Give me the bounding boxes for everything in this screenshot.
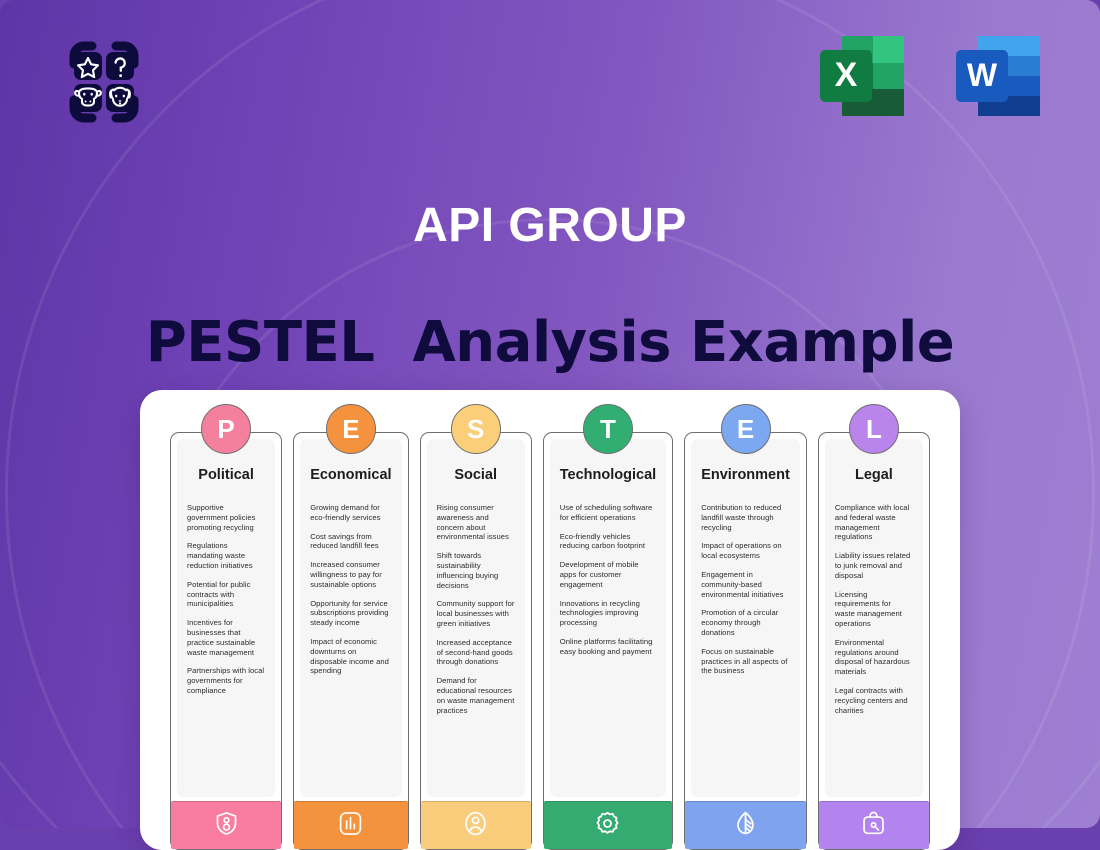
pestel-letter-badge: P [201, 404, 251, 454]
pestel-column-title: Social [437, 467, 515, 483]
pestel-column-body: LegalCompliance with local and federal w… [825, 439, 923, 797]
pestel-bullet: Licensing requirements for waste managem… [835, 590, 913, 629]
pestel-column-body: EnvironmentContribution to reduced landf… [691, 439, 800, 797]
pestel-column-environment[interactable]: EEnvironmentContribution to reduced land… [684, 432, 807, 850]
pestel-card: PPoliticalSupportive government policies… [140, 390, 960, 850]
pestel-column-technological[interactable]: TTechnologicalUse of scheduling software… [543, 432, 673, 850]
pestel-column-title: Environment [701, 467, 790, 483]
pestel-bullet: Promotion of a circular economy through … [701, 608, 790, 637]
pestel-bullet: Shift towards sustainability influencing… [437, 551, 515, 590]
pestel-bullet-list: Contribution to reduced landfill waste t… [701, 503, 790, 676]
person-icon-tile[interactable] [421, 801, 531, 849]
leaf-icon-tile[interactable] [685, 801, 806, 849]
pestel-bullet: Development of mobile apps for customer … [560, 560, 656, 589]
pestel-bullet: Liability issues related to junk removal… [835, 551, 913, 580]
microsoft-word-icon[interactable]: W [948, 26, 1048, 126]
pestel-bullet: Incentives for businesses that practice … [187, 618, 265, 657]
pestel-bullet: Growing demand for eco-friendly services [310, 503, 391, 523]
pestel-column-body: SocialRising consumer awareness and conc… [427, 439, 525, 797]
pestel-bullet: Opportunity for service subscriptions pr… [310, 599, 391, 628]
pestel-bullet: Increased acceptance of second-hand good… [437, 638, 515, 667]
api-group-logo [52, 30, 156, 134]
pestel-column-legal[interactable]: LLegalCompliance with local and federal … [818, 432, 930, 850]
shield-person-icon [213, 810, 240, 842]
pestel-bullet: Increased consumer willingness to pay fo… [310, 560, 391, 589]
pestel-bullet-list: Supportive government policies promoting… [187, 503, 265, 696]
pestel-letter-badge: E [326, 404, 376, 454]
pestel-bullet-list: Rising consumer awareness and concern ab… [437, 503, 515, 715]
pestel-bullet: Use of scheduling software for efficient… [560, 503, 656, 523]
shield-person-icon-tile[interactable] [171, 801, 281, 849]
pestel-bullet-list: Growing demand for eco-friendly services… [310, 503, 391, 676]
bar-chart-icon-tile[interactable] [294, 801, 407, 849]
pestel-bullet: Rising consumer awareness and concern ab… [437, 503, 515, 542]
pestel-bullet: Demand for educational resources on wast… [437, 676, 515, 715]
pestel-column-body: PoliticalSupportive government policies … [177, 439, 275, 797]
pestel-bullet: Supportive government policies promoting… [187, 503, 265, 532]
pestel-column-title: Economical [310, 467, 391, 483]
pestel-column-title: Political [187, 467, 265, 483]
pestel-columns: PPoliticalSupportive government policies… [170, 432, 930, 850]
pestel-column-body: EconomicalGrowing demand for eco-friendl… [300, 439, 401, 797]
pestel-letter-badge: S [451, 404, 501, 454]
pestel-bullet: Online platforms facilitating easy booki… [560, 637, 656, 657]
gear-icon-tile[interactable] [544, 801, 672, 849]
pestel-bullet: Impact of economic downturns on disposab… [310, 637, 391, 676]
pestel-bullet: Contribution to reduced landfill waste t… [701, 503, 790, 532]
gear-icon [594, 810, 621, 842]
svg-text:X: X [835, 56, 858, 94]
pestel-bullet: Focus on sustainable practices in all as… [701, 647, 790, 676]
pestel-bullet: Cost savings from reduced landfill fees [310, 532, 391, 552]
pestel-bullet: Impact of operations on local ecosystems [701, 541, 790, 561]
pestel-column-political[interactable]: PPoliticalSupportive government policies… [170, 432, 282, 850]
pestel-bullet: Engagement in community-based environmen… [701, 570, 790, 599]
pestel-bullet: Legal contracts with recycling centers a… [835, 686, 913, 715]
briefcase-icon [860, 810, 887, 842]
pestel-bullet: Environmental regulations around disposa… [835, 638, 913, 677]
office-app-icons: X W [812, 26, 1048, 126]
pestel-bullet: Regulations mandating waste reduction in… [187, 541, 265, 570]
pestel-column-economical[interactable]: EEconomicalGrowing demand for eco-friend… [293, 432, 408, 850]
person-icon [462, 810, 489, 842]
leaf-icon [732, 810, 759, 842]
pestel-bullet: Potential for public contracts with muni… [187, 580, 265, 609]
pestel-column-title: Technological [560, 467, 656, 483]
pestel-column-title: Legal [835, 467, 913, 483]
pestel-letter-badge: E [721, 404, 771, 454]
pestel-letter-badge: L [849, 404, 899, 454]
pestel-bullet: Eco-friendly vehicles reducing carbon fo… [560, 532, 656, 552]
pestel-bullet: Compliance with local and federal waste … [835, 503, 913, 542]
svg-text:W: W [967, 57, 998, 93]
pestel-bullet: Community support for local businesses w… [437, 599, 515, 628]
pestel-bullet: Partnerships with local governments for … [187, 666, 265, 695]
pestel-column-body: TechnologicalUse of scheduling software … [550, 439, 666, 797]
pestel-column-social[interactable]: SSocialRising consumer awareness and con… [420, 432, 532, 850]
microsoft-excel-icon[interactable]: X [812, 26, 912, 126]
pestel-bullet: Innovations in recycling technologies im… [560, 599, 656, 628]
brand-title: API GROUP [0, 198, 1100, 253]
bar-chart-icon [337, 810, 364, 842]
pestel-letter-badge: T [583, 404, 633, 454]
pestel-bullet-list: Use of scheduling software for efficient… [560, 503, 656, 657]
briefcase-icon-tile[interactable] [819, 801, 929, 849]
page-title: PESTEL Analysis Example [0, 310, 1100, 375]
pestel-bullet-list: Compliance with local and federal waste … [835, 503, 913, 715]
